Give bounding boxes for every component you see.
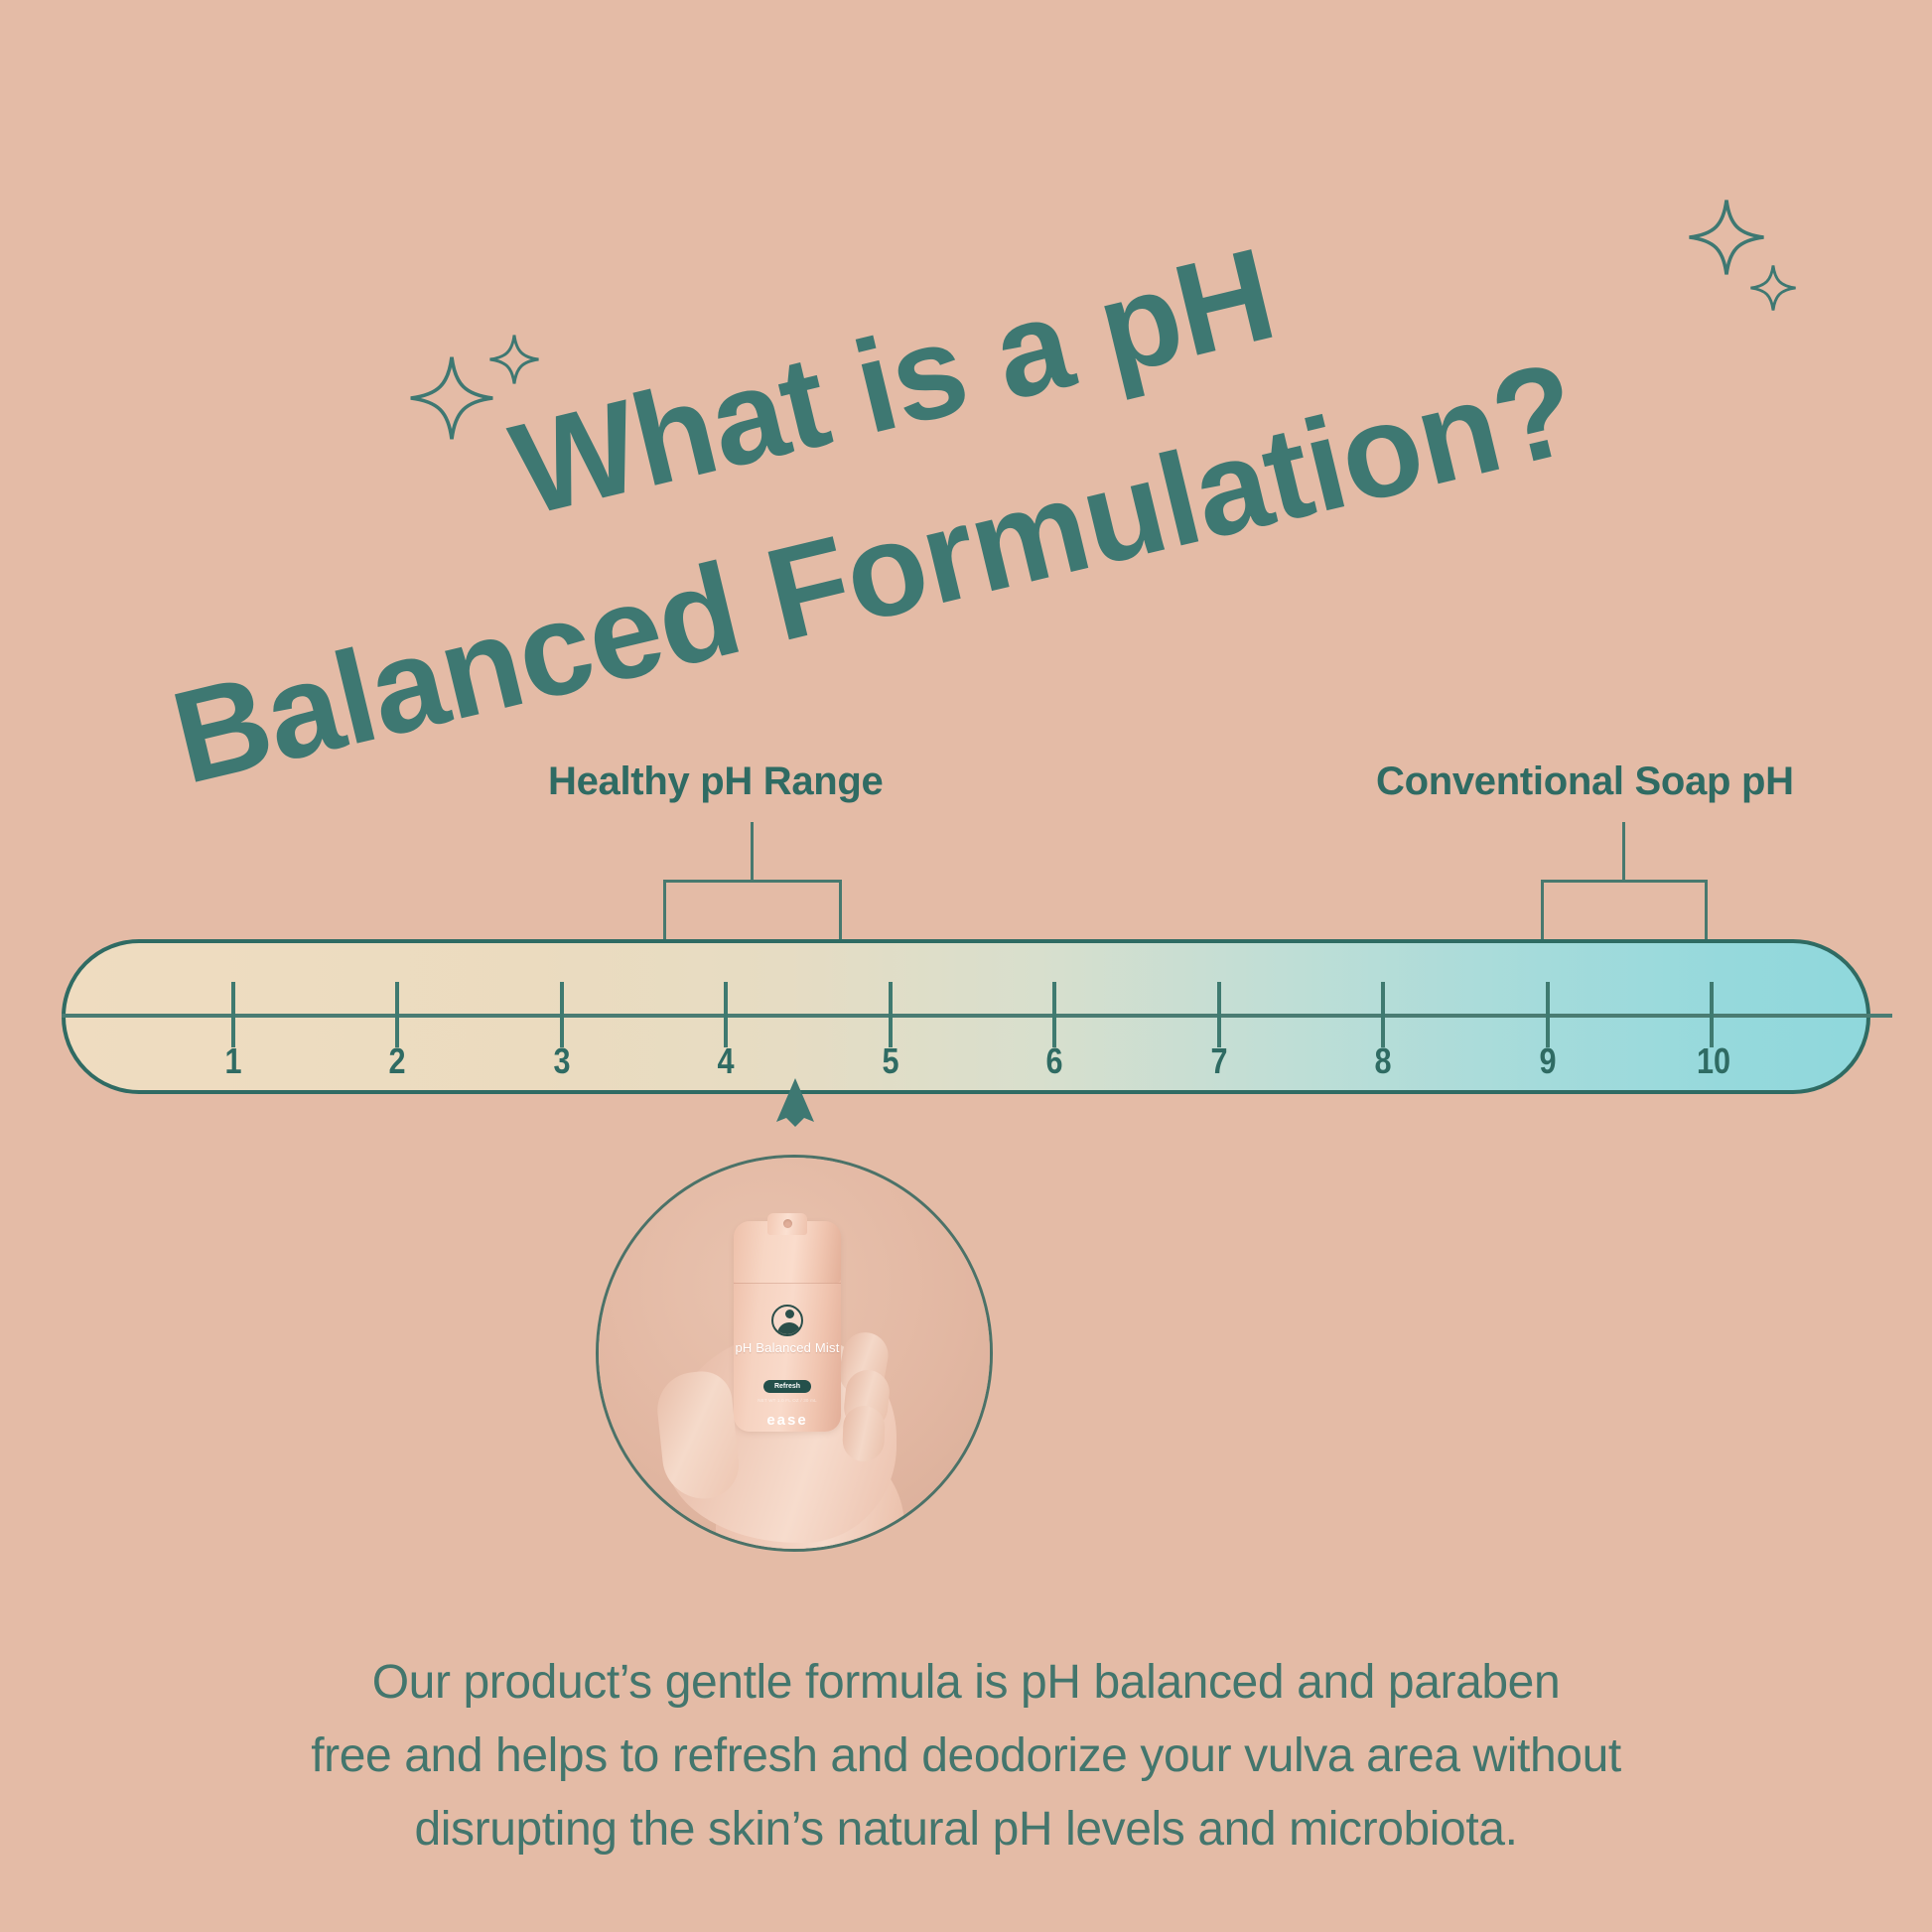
- tick-label-4: 4: [717, 1040, 734, 1082]
- product-ph-pointer-arrow: [773, 1078, 817, 1132]
- footer-description: Our product’s gentle formula is pH balan…: [139, 1646, 1793, 1866]
- footer-line-2: free and helps to refresh and deodorize …: [139, 1720, 1793, 1793]
- bracket-top-soap: [1541, 880, 1708, 884]
- bottle-product-name-line1: pH Balanced: [735, 1340, 811, 1355]
- footer-line-3: disrupting the skin’s natural pH levels …: [139, 1793, 1793, 1866]
- tick-4: [724, 982, 728, 1047]
- tick-8: [1381, 982, 1385, 1047]
- hand-thumb: [654, 1368, 743, 1502]
- tick-label-6: 6: [1045, 1040, 1062, 1082]
- bottle-nozzle-hole: [783, 1219, 792, 1228]
- infographic-canvas: What is a pH Balanced Formulation? Healt…: [0, 0, 1932, 1932]
- product-bottle: pH Balanced Mist Refresh NET WT 1.0 FL O…: [734, 1221, 841, 1432]
- bottle-fineprint: NET WT 1.0 FL OZ / 30 mL: [748, 1398, 827, 1404]
- brand-emblem-icon: [771, 1305, 803, 1336]
- tick-6: [1052, 982, 1056, 1047]
- tick-7: [1217, 982, 1221, 1047]
- ph-scale-axis-line: [62, 1014, 1892, 1018]
- product-photo-background: pH Balanced Mist Refresh NET WT 1.0 FL O…: [599, 1158, 993, 1552]
- tick-label-2: 2: [388, 1040, 405, 1082]
- bottle-brand-name: ease: [734, 1412, 841, 1429]
- bracket-stem-healthy: [751, 822, 754, 882]
- bottle-product-name-line2: Mist: [815, 1340, 840, 1355]
- label-conventional-soap-ph: Conventional Soap pH: [1376, 759, 1794, 804]
- tick-2: [395, 982, 399, 1047]
- bottle-cap: [734, 1221, 841, 1283]
- ph-scale-section: Healthy pH Range Conventional Soap pH: [0, 0, 1932, 1932]
- hand-finger-ring: [842, 1405, 886, 1461]
- product-photo-circle: pH Balanced Mist Refresh NET WT 1.0 FL O…: [596, 1155, 993, 1552]
- tick-label-5: 5: [882, 1040, 898, 1082]
- tick-9: [1546, 982, 1550, 1047]
- tick-label-3: 3: [553, 1040, 570, 1082]
- bottle-refresh-badge: Refresh: [763, 1380, 811, 1393]
- tick-label-9: 9: [1539, 1040, 1556, 1082]
- bracket-top-healthy: [663, 880, 842, 884]
- tick-10: [1710, 982, 1714, 1047]
- tick-label-8: 8: [1374, 1040, 1391, 1082]
- bottle-seam-line: [734, 1283, 841, 1284]
- tick-1: [231, 982, 235, 1047]
- label-healthy-ph-range: Healthy pH Range: [548, 759, 884, 804]
- tick-label-1: 1: [224, 1040, 241, 1082]
- tick-label-10: 10: [1697, 1040, 1730, 1082]
- tick-5: [889, 982, 893, 1047]
- bottle-product-name: pH Balanced Mist: [734, 1340, 841, 1355]
- bottle-spray-nozzle: [767, 1213, 807, 1235]
- tick-label-7: 7: [1210, 1040, 1227, 1082]
- bracket-stem-soap: [1622, 822, 1625, 882]
- footer-line-1: Our product’s gentle formula is pH balan…: [139, 1646, 1793, 1720]
- tick-3: [560, 982, 564, 1047]
